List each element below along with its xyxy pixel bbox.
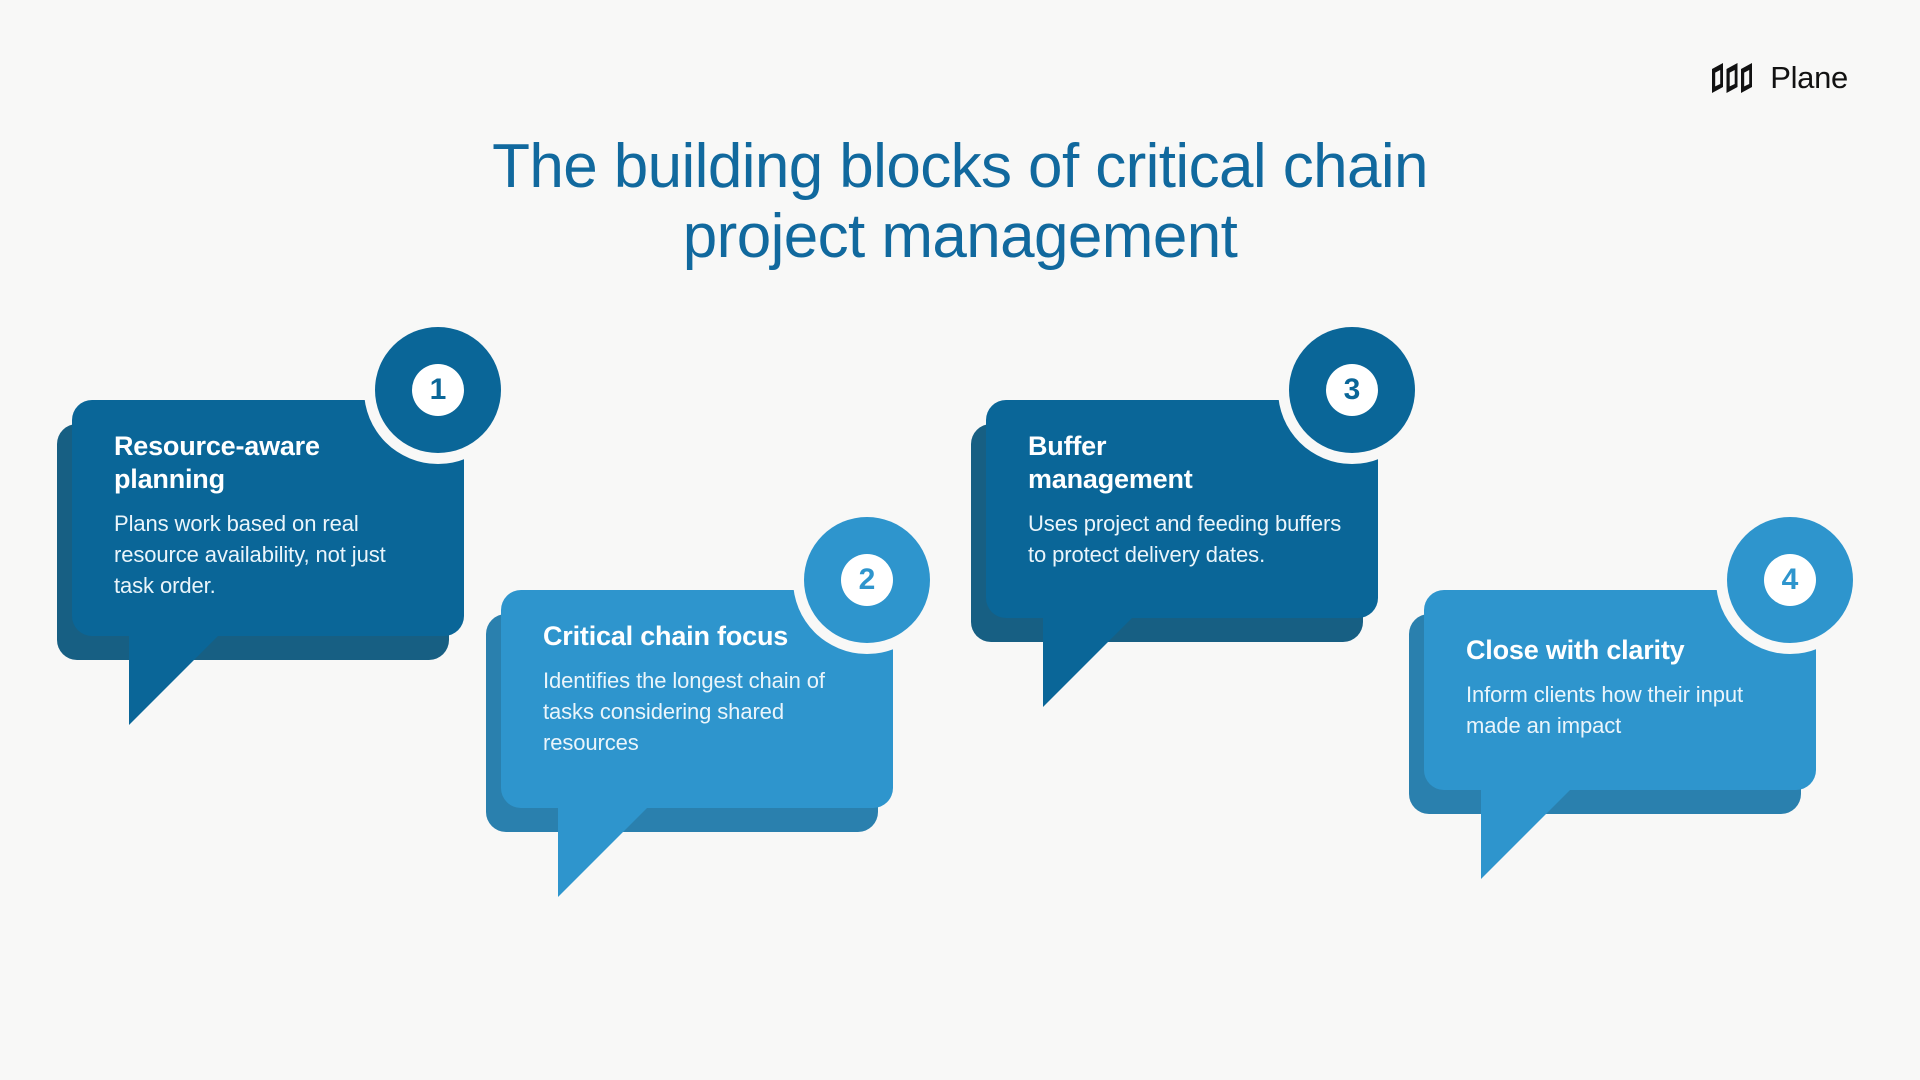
step-number: 4 xyxy=(1764,554,1816,606)
card-tail xyxy=(129,635,219,725)
step-number: 3 xyxy=(1326,364,1378,416)
step-card-4: Close with clarity Inform clients how th… xyxy=(1424,590,1816,790)
card-description: Plans work based on real resource availa… xyxy=(114,508,430,602)
card-tail xyxy=(1481,789,1571,879)
step-badge-3: 3 xyxy=(1289,327,1415,453)
page-title: The building blocks of critical chain pr… xyxy=(0,132,1920,272)
card-description: Identifies the longest chain of tasks co… xyxy=(543,665,859,759)
step-card-2: Critical chain focus Identifies the long… xyxy=(501,590,893,808)
card-title: Buffer management xyxy=(1028,430,1278,496)
card-title: Close with clarity xyxy=(1466,634,1782,667)
card-title: Resource-aware planning xyxy=(114,430,364,496)
card-description: Inform clients how their input made an i… xyxy=(1466,679,1782,741)
step-badge-2: 2 xyxy=(804,517,930,643)
card-tail xyxy=(1043,617,1133,707)
step-badge-1: 1 xyxy=(375,327,501,453)
step-number: 2 xyxy=(841,554,893,606)
card-description: Uses project and feeding buffers to prot… xyxy=(1028,508,1344,570)
card-tail xyxy=(558,807,648,897)
step-card-3: Buffer management Uses project and feedi… xyxy=(986,400,1378,618)
card-title: Critical chain focus xyxy=(543,620,793,653)
brand-name: Plane xyxy=(1770,62,1848,93)
step-card-1: Resource-aware planning Plans work based… xyxy=(72,400,464,636)
plane-logo-mark xyxy=(1712,63,1758,93)
brand-logo: Plane xyxy=(1712,62,1848,93)
step-badge-4: 4 xyxy=(1727,517,1853,643)
step-number: 1 xyxy=(412,364,464,416)
